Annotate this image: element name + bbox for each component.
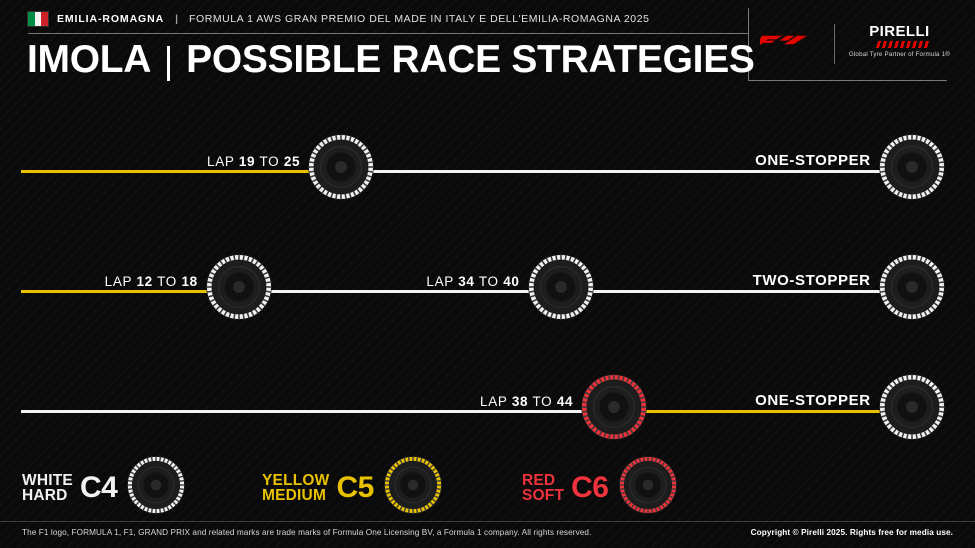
legend-compound-code: C5 xyxy=(337,473,374,503)
stint-bar-white xyxy=(341,170,911,173)
tyre-icon-white xyxy=(879,134,945,200)
italy-flag-icon xyxy=(28,12,48,26)
tyre-icon-white xyxy=(528,254,594,320)
to-word: TO xyxy=(259,154,279,169)
lap-word: LAP xyxy=(105,274,132,289)
pit-stop-tyre xyxy=(206,254,272,325)
footer-copyright: Copyright © Pirelli 2025. Rights free fo… xyxy=(751,528,953,537)
stint-bar-white xyxy=(561,290,912,293)
lap-from: 38 xyxy=(512,394,528,409)
legend-color-name: YELLOW xyxy=(262,473,330,488)
pit-window-label: LAP 12 TO 18 xyxy=(105,274,198,289)
legend-compound-type: SOFT xyxy=(522,488,564,503)
tyre-icon-white xyxy=(879,254,945,320)
legend-compound-type: MEDIUM xyxy=(262,488,330,503)
pit-window-label: LAP 34 TO 40 xyxy=(426,274,519,289)
strategy-type-label: ONE-STOPPER xyxy=(755,152,871,169)
page-title-pipe xyxy=(167,46,170,81)
footer: The F1 logo, FORMULA 1, F1, GRAND PRIX a… xyxy=(0,524,975,548)
strategy-type-label: ONE-STOPPER xyxy=(755,392,871,409)
page-title: IMOLA POSSIBLE RACE STRATEGIES xyxy=(27,38,755,82)
logo-divider xyxy=(834,24,835,64)
finish-tyre xyxy=(879,134,945,205)
tyre-icon-yellow xyxy=(384,456,442,514)
footer-legal-text: The F1 logo, FORMULA 1, F1, GRAND PRIX a… xyxy=(22,528,591,537)
legend-tyre xyxy=(127,456,185,519)
pit-stop-tyre xyxy=(581,374,647,445)
strategies-container: LAP 19 TO 25 ONE-STOPPERLAP 12 TO 18 LAP… xyxy=(0,88,975,448)
f1-logo xyxy=(760,32,822,52)
header-vertical-divider xyxy=(748,8,749,80)
lap-word: LAP xyxy=(207,154,234,169)
header-separator: | xyxy=(175,13,178,25)
header-country: EMILIA-ROMAGNA xyxy=(57,13,164,25)
pirelli-logo: PIRELLI Global Tyre Partner of Formula 1… xyxy=(849,24,950,58)
header-event-name: FORMULA 1 AWS GRAN PREMIO DEL MADE IN IT… xyxy=(189,13,649,25)
legend-color-name: RED xyxy=(522,473,564,488)
legend-color-name: WHITE xyxy=(22,473,73,488)
pit-window-label: LAP 38 TO 44 xyxy=(480,394,573,409)
legend-item-c4: WHITEHARDC4 xyxy=(22,456,185,519)
stint-bar-yellow xyxy=(21,170,341,173)
to-word: TO xyxy=(157,274,177,289)
stint-bar-white xyxy=(21,410,614,413)
header-divider xyxy=(28,33,748,34)
legend-compound-names: YELLOWMEDIUM xyxy=(262,473,330,503)
header-divider-right xyxy=(748,80,947,81)
tyre-icon-white xyxy=(127,456,185,514)
legend-compound-code: C6 xyxy=(571,473,608,503)
legend-compound-names: REDSOFT xyxy=(522,473,564,503)
pit-stop-tyre xyxy=(308,134,374,205)
tyre-icon-red xyxy=(581,374,647,440)
page-root: EMILIA-ROMAGNA | FORMULA 1 AWS GRAN PREM… xyxy=(0,0,975,548)
pirelli-tagline: Global Tyre Partner of Formula 1® xyxy=(849,51,950,58)
lap-from: 19 xyxy=(239,154,255,169)
legend-tyre xyxy=(619,456,677,519)
finish-tyre xyxy=(879,374,945,445)
pirelli-wordmark: PIRELLI xyxy=(869,24,929,40)
tyre-icon-white xyxy=(206,254,272,320)
lap-word: LAP xyxy=(480,394,507,409)
lap-to: 18 xyxy=(181,274,197,289)
legend-tyre xyxy=(384,456,442,519)
finish-tyre xyxy=(879,254,945,325)
lap-from: 12 xyxy=(136,274,152,289)
footer-divider xyxy=(0,521,975,522)
tyre-icon-red xyxy=(619,456,677,514)
strategy-row-one-stopper-bottom: LAP 38 TO 44 ONE-STOPPER xyxy=(0,328,975,438)
lap-to: 25 xyxy=(284,154,300,169)
stint-bar-yellow xyxy=(614,410,911,413)
lap-to: 40 xyxy=(503,274,519,289)
legend-item-c6: REDSOFTC6 xyxy=(522,456,677,519)
tyre-icon-white xyxy=(308,134,374,200)
to-word: TO xyxy=(479,274,499,289)
page-title-circuit: IMOLA xyxy=(27,38,151,82)
pirelli-stripe-icon xyxy=(876,41,930,48)
lap-from: 34 xyxy=(458,274,474,289)
header-logos: PIRELLI Global Tyre Partner of Formula 1… xyxy=(760,24,950,68)
strategy-row-two-stopper: LAP 12 TO 18 LAP 34 TO 40 TWO-STOPPER xyxy=(0,208,975,318)
strategy-type-label: TWO-STOPPER xyxy=(753,272,871,289)
lap-word: LAP xyxy=(426,274,453,289)
stint-bar-white xyxy=(239,290,561,293)
header-event-line: EMILIA-ROMAGNA | FORMULA 1 AWS GRAN PREM… xyxy=(28,12,649,26)
page-title-text: POSSIBLE RACE STRATEGIES xyxy=(186,38,755,82)
legend-compound-type: HARD xyxy=(22,488,73,503)
strategy-row-one-stopper-top: LAP 19 TO 25 ONE-STOPPER xyxy=(0,88,975,198)
to-word: TO xyxy=(532,394,552,409)
legend-item-c5: YELLOWMEDIUMC5 xyxy=(262,456,442,519)
legend-compound-code: C4 xyxy=(80,473,117,503)
pit-stop-tyre xyxy=(528,254,594,325)
legend-compound-names: WHITEHARD xyxy=(22,473,73,503)
tyre-icon-white xyxy=(879,374,945,440)
compound-legend: WHITEHARDC4 YELLOWMEDIUMC5 REDSOFTC6 xyxy=(0,452,975,514)
header: EMILIA-ROMAGNA | FORMULA 1 AWS GRAN PREM… xyxy=(0,0,975,88)
lap-to: 44 xyxy=(557,394,573,409)
pit-window-label: LAP 19 TO 25 xyxy=(207,154,300,169)
